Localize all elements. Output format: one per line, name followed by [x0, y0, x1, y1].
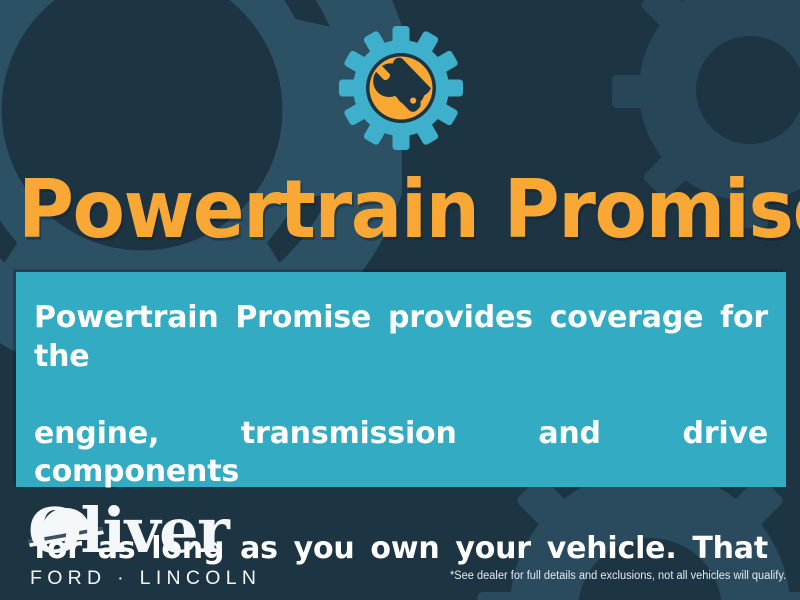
- logo-subtitle: FORD · LINCOLN: [30, 568, 261, 588]
- disclaimer-text: *See dealer for full details and exclusi…: [450, 569, 786, 583]
- logo-wordmark: Oliver: [28, 500, 228, 562]
- powertrain-promise-poster: Powertrain Promise Powertrain Promise pr…: [0, 0, 800, 600]
- oliver-ford-lincoln-logo: Oliver FORD · LINCOLN: [26, 500, 258, 590]
- promise-description-panel: Powertrain Promise provides coverage for…: [16, 272, 786, 487]
- gear-wrench-icon: [335, 22, 467, 154]
- promise-line: Powertrain Promise provides coverage for…: [34, 299, 768, 415]
- page-title: Powertrain Promise: [18, 163, 782, 257]
